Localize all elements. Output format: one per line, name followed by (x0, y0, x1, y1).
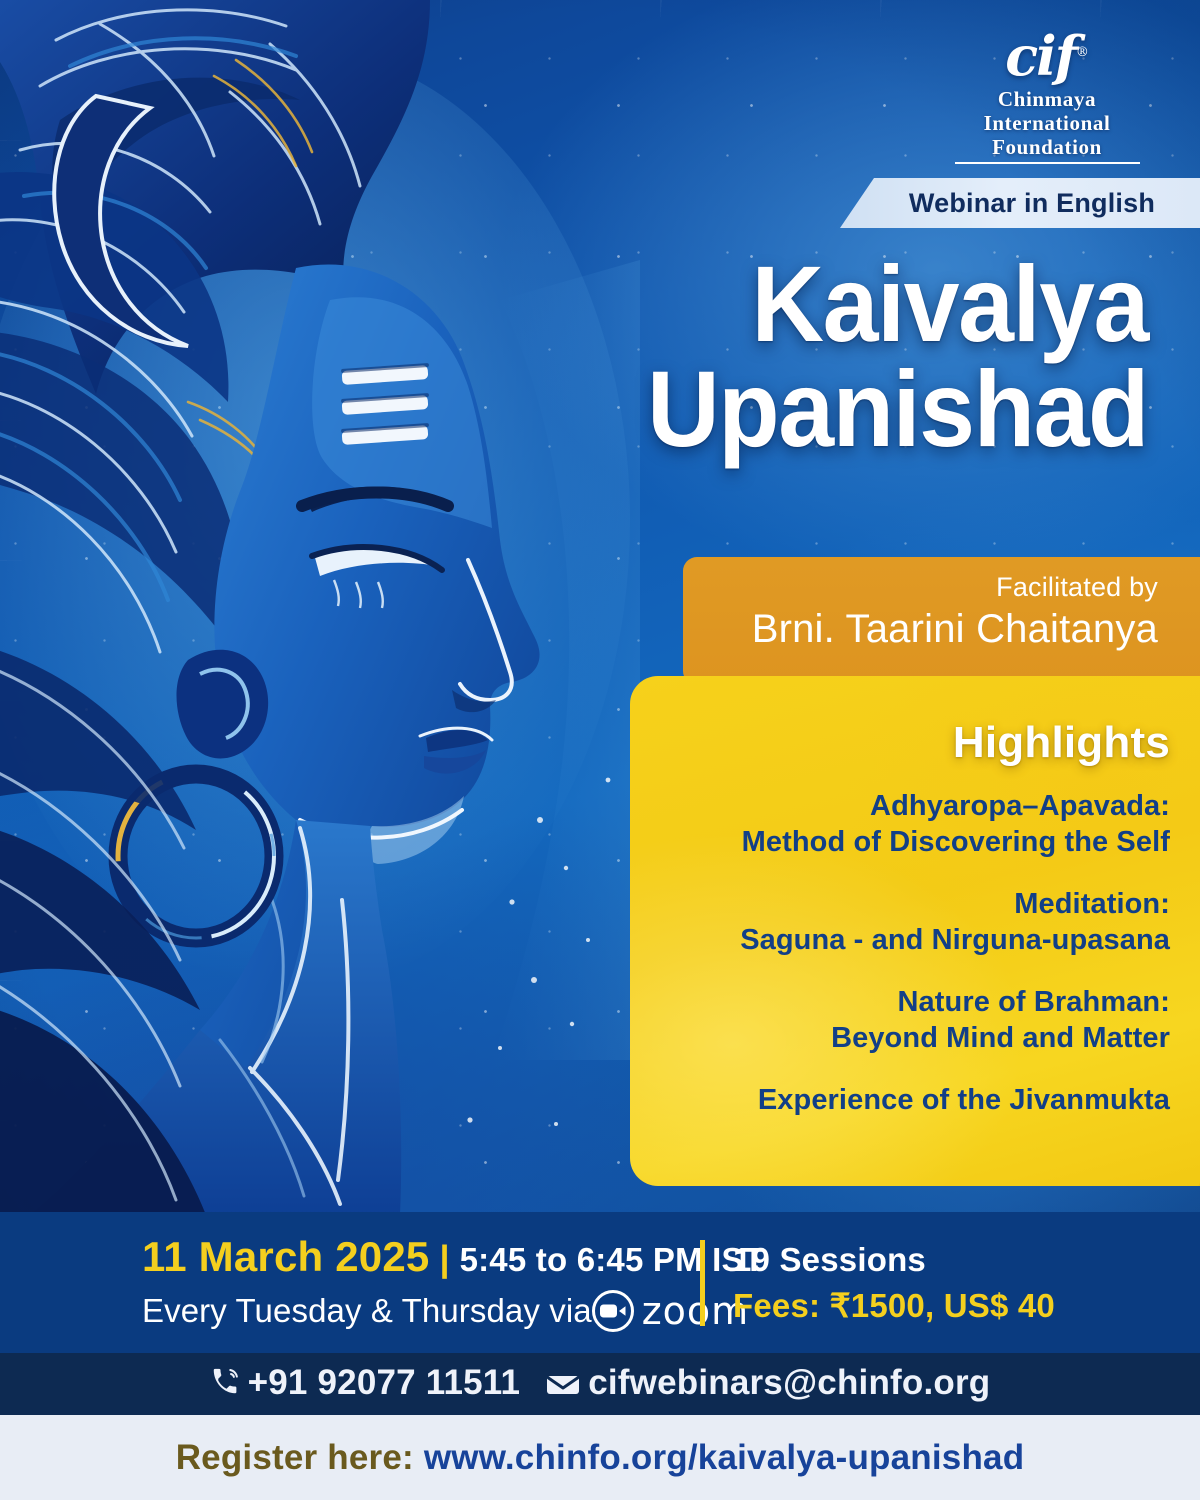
cif-logo-mark: cif® (1005, 24, 1089, 85)
highlight-item-head: Meditation: (670, 886, 1170, 922)
contact-bar: +91 92077 11511 cifwebinars@chinfo.org (0, 1353, 1200, 1415)
highlights-heading: Highlights (670, 676, 1170, 768)
cif-logo-mark-text: cif (1005, 24, 1076, 88)
cif-logo: cif® Chinmaya International Foundation (942, 24, 1152, 164)
shiva-profile-illustration (0, 0, 640, 1215)
webinar-language-label: Webinar in English (909, 188, 1155, 219)
register-url[interactable]: www.chinfo.org/kaivalya-upanishad (424, 1438, 1024, 1477)
zoom-logo: zoom (592, 1289, 749, 1333)
schedule-divider (700, 1240, 705, 1326)
register-bar: Register here:www.chinfo.org/kaivalya-up… (0, 1415, 1200, 1500)
contact-email-address: cifwebinars@chinfo.org (588, 1363, 990, 1402)
schedule-right-group: 19 Sessions Fees: ₹1500, US$ 40 (733, 1241, 1055, 1325)
facilitator-panel: Facilitated by Brni. Taarini Chaitanya (683, 557, 1200, 685)
schedule-time: 5:45 to 6:45 PM IST (460, 1241, 765, 1279)
cif-logo-underline (955, 162, 1140, 164)
highlight-item: Nature of Brahman: Beyond Mind and Matte… (670, 984, 1170, 1056)
highlight-item-head: Experience of the Jivanmukta (670, 1082, 1170, 1118)
highlights-panel: Highlights Adhyaropa–Apavada: Method of … (630, 676, 1200, 1186)
contact-group: +91 92077 11511 cifwebinars@chinfo.org (210, 1363, 991, 1406)
highlight-item: Adhyaropa–Apavada: Method of Discovering… (670, 788, 1170, 860)
highlight-item-sub: Method of Discovering the Self (670, 824, 1170, 860)
schedule-bar: 11 March 2025 | 5:45 to 6:45 PM IST Ever… (0, 1212, 1200, 1353)
highlight-item-head: Nature of Brahman: (670, 984, 1170, 1020)
registered-trademark-icon: ® (1076, 45, 1089, 60)
schedule-recurrence-row: Every Tuesday & Thursday via zoom (142, 1289, 700, 1333)
page-title: Kaivalya Upanishad (497, 252, 1148, 462)
cif-logo-name: Chinmaya International Foundation (942, 87, 1152, 164)
highlight-item-sub: Beyond Mind and Matter (670, 1020, 1170, 1056)
phone-icon (210, 1366, 240, 1406)
page-title-line2: Upanishad (497, 357, 1148, 462)
cif-logo-name-line3: Foundation (942, 135, 1152, 159)
highlight-item: Experience of the Jivanmukta (670, 1082, 1170, 1118)
webinar-language-ribbon: Webinar in English (840, 178, 1200, 228)
contact-email[interactable]: cifwebinars@chinfo.org (546, 1363, 990, 1406)
fees: Fees: ₹1500, US$ 40 (733, 1286, 1055, 1325)
facilitator-name: Brni. Taarini Chaitanya (683, 605, 1158, 653)
envelope-icon (546, 1366, 580, 1406)
schedule-recurrence: Every Tuesday & Thursday via (142, 1292, 592, 1330)
webinar-poster: cif® Chinmaya International Foundation W… (0, 0, 1200, 1500)
session-count: 19 Sessions (733, 1241, 1055, 1279)
highlights-list: Adhyaropa–Apavada: Method of Discovering… (670, 788, 1170, 1118)
page-title-line1: Kaivalya (752, 243, 1148, 364)
schedule-separator: | (439, 1238, 449, 1280)
facilitator-prefix: Facilitated by (683, 571, 1158, 603)
highlight-item-head: Adhyaropa–Apavada: (670, 788, 1170, 824)
cif-logo-name-line2: International (942, 111, 1152, 135)
schedule-left-group: 11 March 2025 | 5:45 to 6:45 PM IST Ever… (0, 1233, 700, 1333)
highlight-item-sub: Saguna - and Nirguna-upasana (670, 922, 1170, 958)
schedule-date-row: 11 March 2025 | 5:45 to 6:45 PM IST (142, 1233, 700, 1281)
contact-phone[interactable]: +91 92077 11511 (210, 1363, 521, 1406)
contact-phone-number: +91 92077 11511 (248, 1363, 521, 1402)
zoom-camera-icon (592, 1290, 634, 1332)
register-group: Register here:www.chinfo.org/kaivalya-up… (176, 1438, 1025, 1478)
highlight-item: Meditation: Saguna - and Nirguna-upasana (670, 886, 1170, 958)
register-label: Register here: (176, 1438, 414, 1477)
cif-logo-name-line1: Chinmaya (942, 87, 1152, 111)
schedule-date: 11 March 2025 (142, 1233, 429, 1281)
